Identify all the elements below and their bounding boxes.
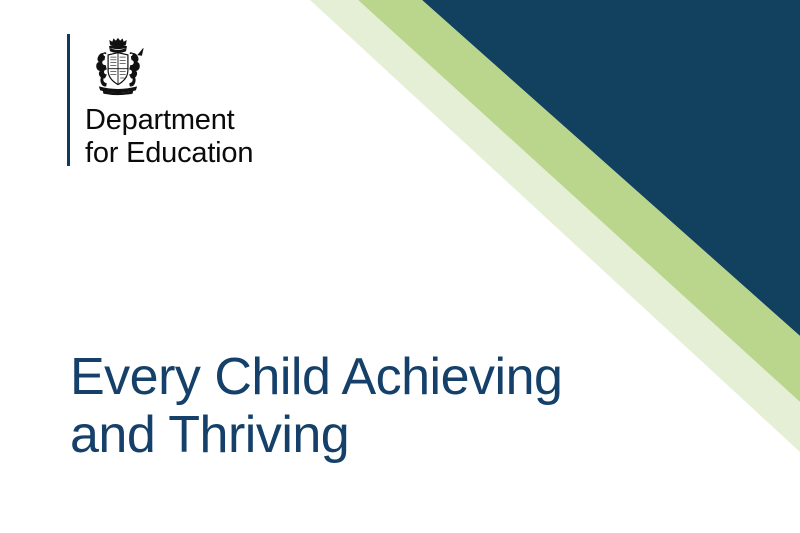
band-mid-green-shape	[358, 0, 800, 402]
cover-page: Department for Education Every Child Ach…	[0, 0, 800, 533]
royal-coat-of-arms-icon	[85, 34, 151, 100]
band-navy-shape	[422, 0, 800, 336]
page-title-line-1: Every Child Achieving	[70, 348, 562, 406]
department-for-education-logo: Department for Education	[67, 34, 253, 170]
logo-text-line-2: for Education	[85, 137, 253, 170]
logo-text-line-1: Department	[85, 104, 253, 137]
page-title: Every Child Achieving and Thriving	[70, 348, 562, 464]
page-title-line-2: and Thriving	[70, 406, 562, 464]
logo-body: Department for Education	[70, 34, 253, 170]
